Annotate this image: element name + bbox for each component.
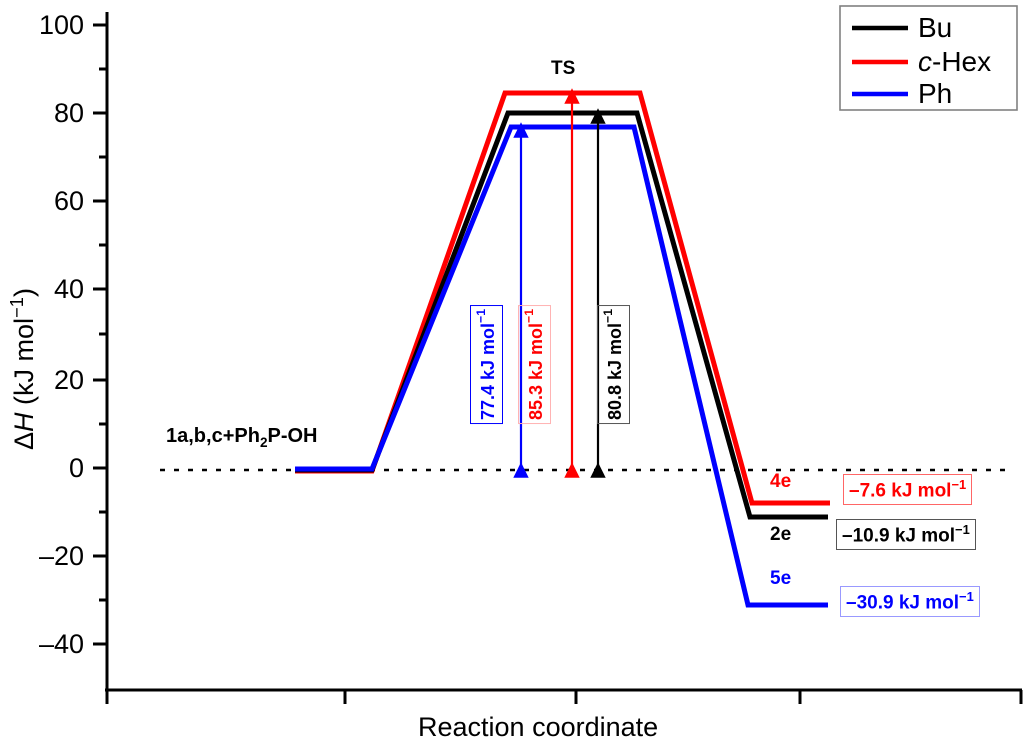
legend-item-c-hex[interactable]: c-Hex [918,46,991,78]
legend-italic-c: c [918,46,932,77]
product-label-2e: 2e [770,524,791,546]
y-axis-unit-close: ) [9,288,39,297]
y-tick-label-minus40: –40 [10,629,84,660]
barrier-chex-value: 85.3 [526,385,546,420]
barrier-ph-unit: kJ mol [478,323,498,385]
y-axis-label: ΔH (kJ mol−1) [6,288,40,450]
y-axis [93,12,107,690]
y-tick-label-80: 80 [10,98,84,129]
product-label-4e: 4e [770,471,791,493]
x-axis [105,690,1022,704]
y-axis-delta: Δ [9,432,39,450]
reactant-subscript: 2 [260,435,268,450]
energy-label-5e: –30.9 kJ mol−1 [840,586,980,617]
legend-item-bu[interactable]: Bu [918,12,952,44]
barrier-ph-value: 77.4 [478,385,498,420]
energy-5e-exp: −1 [959,589,974,604]
barrier-bu-value: 80.8 [605,385,625,420]
legend-c-hex-label: -Hex [932,46,991,77]
energy-profile-chart: 100 80 60 40 20 0 –20 –40 ΔH (kJ mol−1) … [0,0,1024,748]
barrier-ph-exp: −1 [474,309,488,323]
barrier-bu-unit: kJ mol [605,323,625,385]
reactant-tail: P-OH [268,425,318,447]
energy-5e-value: –30.9 [846,592,894,613]
energy-5e-unit: kJ mol [894,592,959,613]
barrier-label-ph: 77.4 kJ mol−1 [470,305,503,424]
series-path-c-hex [295,93,830,503]
energy-4e-exp: −1 [951,477,966,492]
y-axis-unit-exp: −1 [6,297,27,318]
energy-4e-value: –7.6 [849,480,886,501]
barrier-chex-unit: kJ mol [526,323,546,385]
y-tick-label-minus20: –20 [10,541,84,572]
energy-label-2e: –10.9 kJ mol−1 [836,519,976,550]
y-tick-label-100: 100 [10,10,84,41]
legend-item-ph[interactable]: Ph [918,78,952,110]
energy-4e-unit: kJ mol [886,480,951,501]
energy-2e-exp: −1 [955,522,970,537]
y-axis-h: H [9,412,39,432]
series-path-ph [295,127,828,605]
ts-label: TS [551,58,575,80]
chart-canvas [0,0,1024,748]
barrier-label-bu: 80.8 kJ mol−1 [597,305,630,424]
barrier-chex-exp: −1 [522,309,536,323]
y-axis-unit: (kJ mol [9,318,39,413]
energy-2e-unit: kJ mol [890,525,955,546]
energy-2e-value: –10.9 [842,525,890,546]
reactant-main: 1a,b,c+Ph [166,425,260,447]
product-label-5e: 5e [770,568,791,590]
reactant-label: 1a,b,c+Ph2P-OH [166,425,318,450]
energy-label-4e: –7.6 kJ mol−1 [843,474,972,505]
barrier-label-c-hex: 85.3 kJ mol−1 [518,305,551,424]
x-axis-label: Reaction coordinate [418,712,658,743]
y-tick-label-0: 0 [10,453,84,484]
barrier-bu-exp: −1 [601,309,615,323]
y-tick-label-60: 60 [10,186,84,217]
